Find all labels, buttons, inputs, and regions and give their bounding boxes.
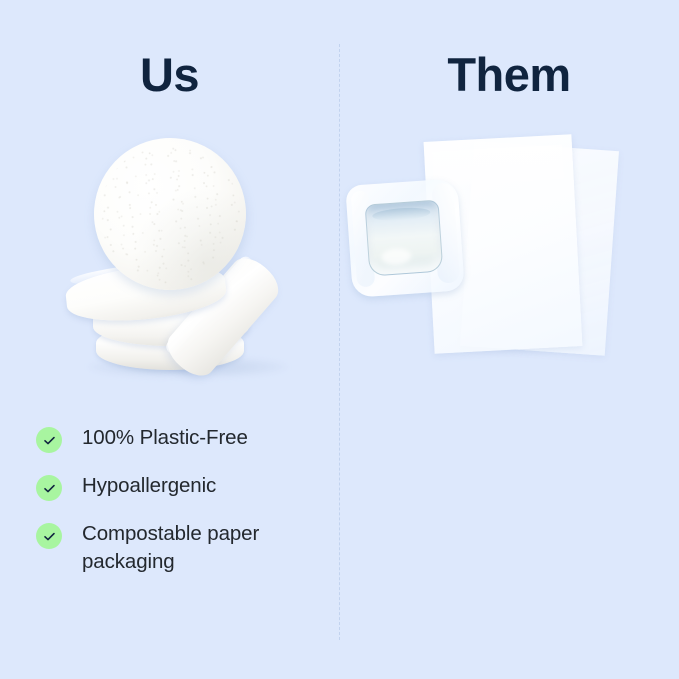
plastic-pod-illustration bbox=[339, 128, 679, 398]
list-item-label: Hypoallergenic bbox=[82, 472, 216, 500]
check-icon bbox=[36, 523, 62, 549]
them-column: Them Made with plastic bbox=[339, 0, 679, 679]
liquid-detergent-pod bbox=[345, 178, 465, 298]
them-product-image bbox=[339, 128, 679, 398]
check-icon bbox=[36, 427, 62, 453]
us-heading: Us bbox=[0, 47, 339, 103]
comparison-graphic: Us 100% Plastic-Free bbox=[0, 0, 679, 679]
check-icon bbox=[36, 475, 62, 501]
list-item: Compostable paper packaging bbox=[36, 520, 326, 576]
list-item: Hypoallergenic bbox=[36, 472, 326, 501]
list-item: 100% Plastic-Free bbox=[36, 424, 326, 453]
pod-liquid-capsule bbox=[365, 200, 444, 277]
us-product-image bbox=[0, 128, 339, 398]
list-item-label: 100% Plastic-Free bbox=[82, 424, 248, 452]
list-item-label: Compostable paper packaging bbox=[82, 520, 326, 576]
them-heading: Them bbox=[339, 47, 679, 103]
white-tablet-stack-illustration bbox=[0, 128, 339, 398]
us-benefit-list: 100% Plastic-Free Hypoallergenic Compost… bbox=[36, 424, 326, 576]
us-column: Us 100% Plastic-Free bbox=[0, 0, 339, 679]
